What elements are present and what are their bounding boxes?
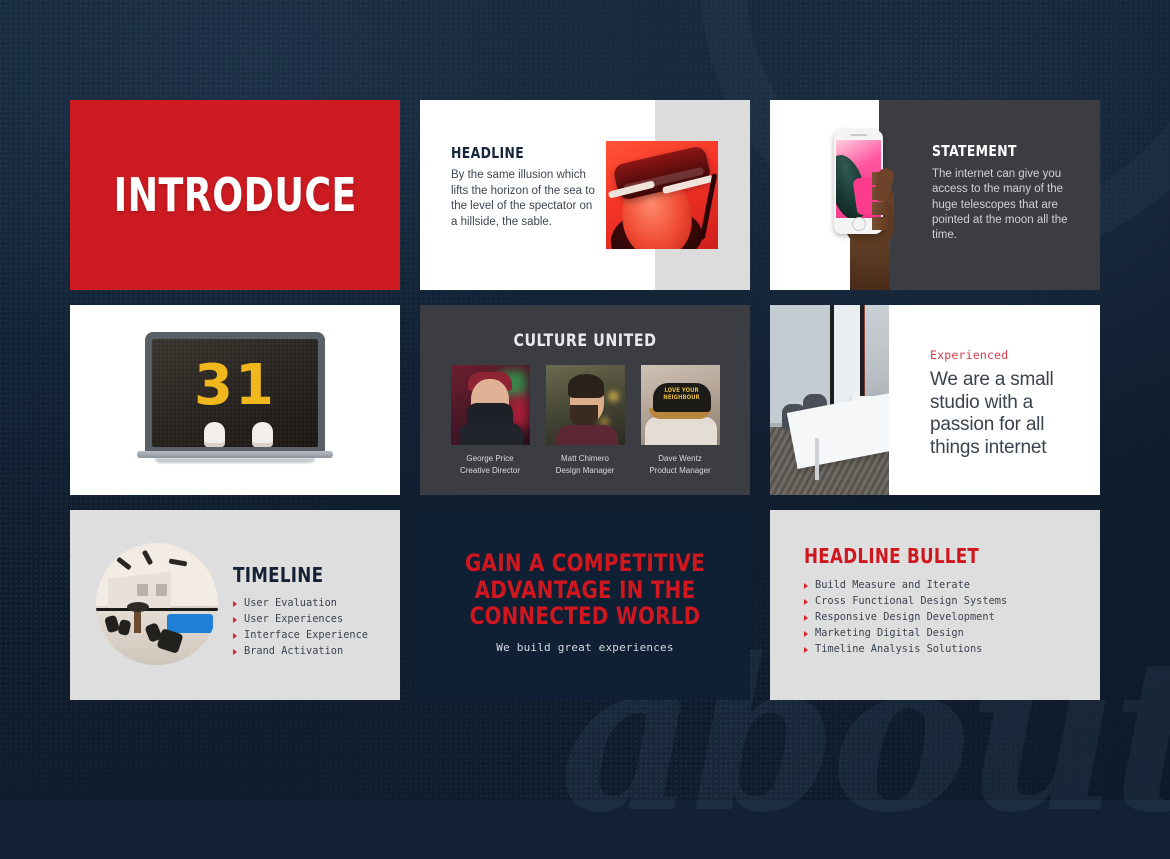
list-item: Brand Activation	[233, 643, 393, 659]
introduce-title: INTRODUCE	[113, 168, 356, 222]
headline-bullet-list: Build Measure and Iterate Cross Function…	[804, 577, 1084, 657]
member-name: Dave Wentz Product Manager	[641, 453, 720, 476]
member-role-text: Creative Director	[451, 465, 530, 477]
gain-subtitle: We build great experiences	[496, 641, 673, 654]
statement-text-block: STATEMENT The internet can give you acce…	[932, 142, 1082, 243]
headline-kicker: HEADLINE	[451, 144, 589, 162]
member-photo-matt	[546, 365, 625, 445]
cap-slogan-text: LOVE YOUR NEIGHBOUR	[659, 387, 705, 401]
headline-body: By the same illusion which lifts the hor…	[451, 168, 601, 230]
headline-bullet-title: HEADLINE BULLET	[804, 544, 1064, 568]
list-item: Timeline Analysis Solutions	[804, 641, 1084, 657]
laptop-screen-number: 31	[152, 353, 318, 418]
headline-bullet-text-block: HEADLINE BULLET Build Measure and Iterat…	[804, 544, 1084, 657]
slide-introduce[interactable]: INTRODUCE	[70, 100, 400, 290]
member-name-text: Dave Wentz	[641, 453, 720, 465]
member-photo-dave: LOVE YOUR NEIGHBOUR	[641, 365, 720, 445]
team-member-card[interactable]: George Price Creative Director	[451, 365, 530, 476]
member-role-text: Design Manager	[546, 465, 625, 477]
statement-kicker: STATEMENT	[932, 142, 1070, 160]
laptop-mockup-image: 31	[137, 332, 333, 468]
headline-text-block: HEADLINE By the same illusion which lift…	[451, 144, 601, 230]
member-name: George Price Creative Director	[451, 453, 530, 476]
team-member-card[interactable]: Matt Chimero Design Manager	[546, 365, 625, 476]
gain-title: GAIN A COMPETITIVE ADVANTAGE IN THE CONN…	[433, 550, 737, 630]
hand-holding-phone-image	[824, 124, 910, 290]
experienced-kicker: Experienced	[930, 348, 1075, 362]
list-item: Cross Functional Design Systems	[804, 593, 1084, 609]
culture-title: CULTURE UNITED	[432, 331, 739, 351]
slide-timeline[interactable]: TIMELINE User Evaluation User Experience…	[70, 510, 400, 700]
list-item: User Experiences	[233, 611, 393, 627]
list-item: Responsive Design Development	[804, 609, 1084, 625]
member-name-text: Matt Chimero	[546, 453, 625, 465]
experienced-text-block: Experienced We are a small studio with a…	[930, 348, 1075, 459]
member-name-text: George Price	[451, 453, 530, 465]
timeline-bullet-list: User Evaluation User Experiences Interfa…	[233, 595, 393, 659]
slide-headline[interactable]: HEADLINE By the same illusion which lift…	[420, 100, 750, 290]
timeline-circle-image	[96, 543, 218, 665]
list-item: User Evaluation	[233, 595, 393, 611]
vr-headset-image	[606, 141, 718, 249]
slide-headline-bullet[interactable]: HEADLINE BULLET Build Measure and Iterat…	[770, 510, 1100, 700]
slide-statement[interactable]: STATEMENT The internet can give you acce…	[770, 100, 1100, 290]
slide-culture-united[interactable]: CULTURE UNITED George Price Creative Dir…	[420, 305, 750, 495]
timeline-title: TIMELINE	[233, 563, 382, 587]
slide-experienced[interactable]: Experienced We are a small studio with a…	[770, 305, 1100, 495]
member-name: Matt Chimero Design Manager	[546, 453, 625, 476]
list-item: Marketing Digital Design	[804, 625, 1084, 641]
office-room-image	[770, 305, 889, 495]
slide-deck-grid: INTRODUCE HEADLINE By the same illusion …	[70, 100, 1100, 700]
statement-body: The internet can give you access to the …	[932, 167, 1082, 243]
culture-member-row: George Price Creative Director Matt Chim…	[420, 365, 750, 476]
list-item: Interface Experience	[233, 627, 393, 643]
timeline-text-block: TIMELINE User Evaluation User Experience…	[233, 563, 393, 659]
list-item: Build Measure and Iterate	[804, 577, 1084, 593]
slide-gain-competitive-advantage[interactable]: GAIN A COMPETITIVE ADVANTAGE IN THE CONN…	[420, 510, 750, 700]
slide-laptop[interactable]: 31	[70, 305, 400, 495]
experienced-headline: We are a small studio with a passion for…	[930, 369, 1075, 459]
team-member-card[interactable]: LOVE YOUR NEIGHBOUR Dave Wentz Product M…	[641, 365, 720, 476]
member-role-text: Product Manager	[641, 465, 720, 477]
member-photo-george	[451, 365, 530, 445]
